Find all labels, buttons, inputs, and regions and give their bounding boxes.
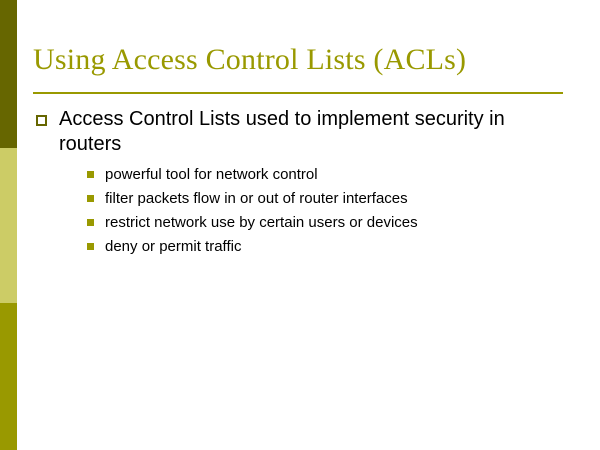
filled-square-bullet-icon: [87, 219, 94, 226]
bullet-text-level-2: restrict network use by certain users or…: [105, 211, 573, 234]
bullet-item-level-2: filter packets flow in or out of router …: [86, 187, 573, 210]
presentation-slide: Using Access Control Lists (ACLs) Access…: [0, 0, 600, 450]
bullet-text-level-2: powerful tool for network control: [105, 163, 573, 186]
bullet-text-level-2: filter packets flow in or out of router …: [105, 187, 573, 210]
bullet-text-level-2: deny or permit traffic: [105, 235, 573, 258]
sidebar-band-bottom: [0, 303, 17, 450]
filled-square-bullet-icon: [87, 195, 94, 202]
bullet-item-level-2: restrict network use by certain users or…: [86, 211, 573, 234]
bullet-list-level-1: Access Control Lists used to implement s…: [33, 107, 573, 258]
filled-square-bullet-icon: [87, 171, 94, 178]
sidebar-band-top: [0, 0, 17, 148]
filled-square-bullet-icon: [87, 243, 94, 250]
hollow-square-bullet-icon: [36, 115, 47, 126]
bullet-text-level-1: Access Control Lists used to implement s…: [59, 107, 535, 157]
slide-body: Access Control Lists used to implement s…: [33, 107, 573, 262]
sidebar-band-middle: [0, 148, 17, 303]
bullet-item-level-1: Access Control Lists used to implement s…: [33, 107, 573, 258]
bullet-item-level-2: powerful tool for network control: [86, 163, 573, 186]
slide-accent-sidebar: [0, 0, 17, 450]
bullet-list-level-2: powerful tool for network control filter…: [59, 163, 573, 258]
title-underline-rule: [33, 92, 563, 94]
bullet-item-level-2: deny or permit traffic: [86, 235, 573, 258]
slide-title: Using Access Control Lists (ACLs): [33, 42, 573, 78]
